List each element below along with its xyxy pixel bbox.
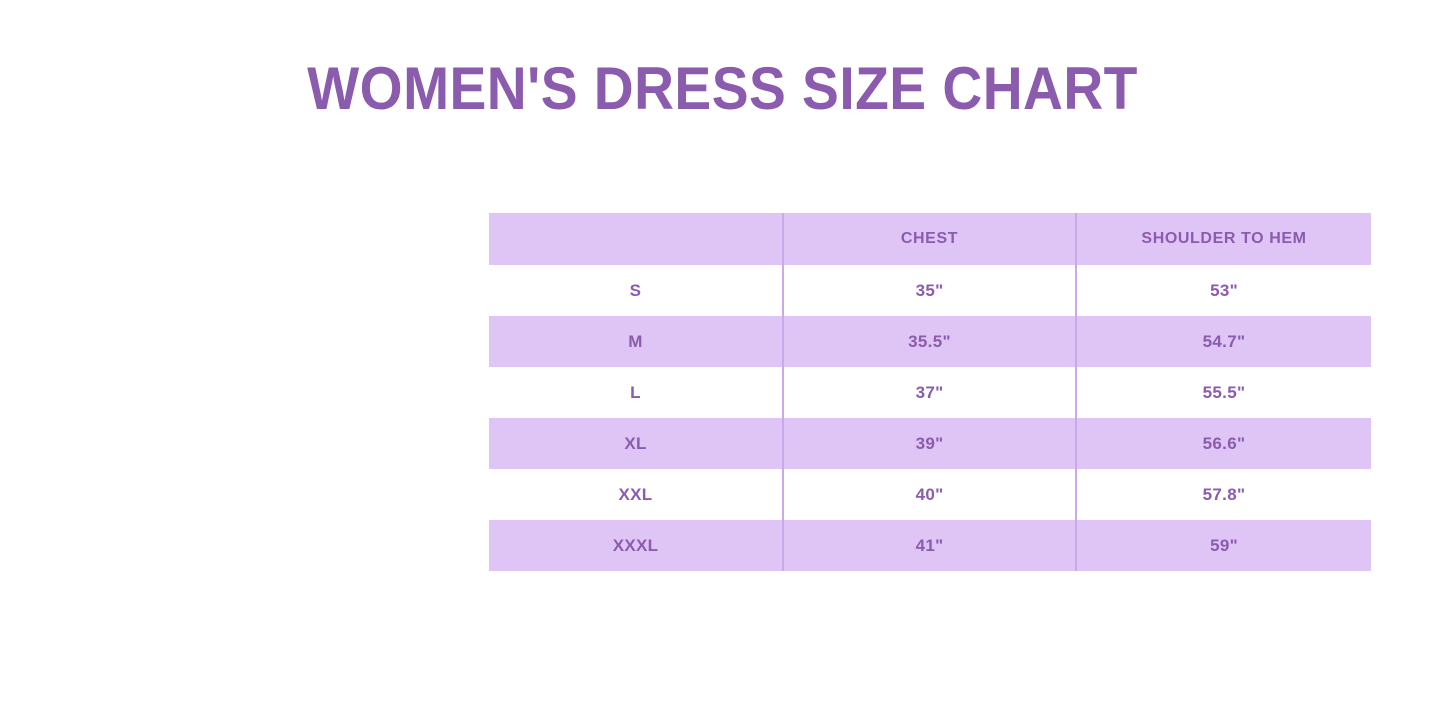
table-header-row: CHEST SHOULDER TO HEM xyxy=(489,213,1371,265)
size-chart-table: CHEST SHOULDER TO HEM S 35" 53" M 35.5" … xyxy=(489,213,1371,571)
column-header-size xyxy=(489,213,783,265)
cell-size: XL xyxy=(489,418,783,469)
cell-chest: 35" xyxy=(783,265,1076,316)
cell-chest: 41" xyxy=(783,520,1076,571)
cell-size: XXL xyxy=(489,469,783,520)
size-chart-page: WOMEN'S DRESS SIZE CHART CHEST SHOULDER … xyxy=(0,0,1445,723)
column-header-shoulder-to-hem: SHOULDER TO HEM xyxy=(1076,213,1371,265)
cell-size: S xyxy=(489,265,783,316)
cell-shoulder-to-hem: 55.5" xyxy=(1076,367,1371,418)
cell-shoulder-to-hem: 54.7" xyxy=(1076,316,1371,367)
table-row: S 35" 53" xyxy=(489,265,1371,316)
cell-size: L xyxy=(489,367,783,418)
column-header-chest: CHEST xyxy=(783,213,1076,265)
page-title: WOMEN'S DRESS SIZE CHART xyxy=(58,56,1387,122)
cell-chest: 39" xyxy=(783,418,1076,469)
table-row: L 37" 55.5" xyxy=(489,367,1371,418)
cell-shoulder-to-hem: 56.6" xyxy=(1076,418,1371,469)
cell-shoulder-to-hem: 59" xyxy=(1076,520,1371,571)
cell-chest: 40" xyxy=(783,469,1076,520)
table-body: S 35" 53" M 35.5" 54.7" L 37" 55.5" XL 3… xyxy=(489,265,1371,571)
cell-shoulder-to-hem: 57.8" xyxy=(1076,469,1371,520)
cell-shoulder-to-hem: 53" xyxy=(1076,265,1371,316)
cell-size: M xyxy=(489,316,783,367)
cell-chest: 35.5" xyxy=(783,316,1076,367)
cell-chest: 37" xyxy=(783,367,1076,418)
table-row: XL 39" 56.6" xyxy=(489,418,1371,469)
table-row: XXL 40" 57.8" xyxy=(489,469,1371,520)
table-header: CHEST SHOULDER TO HEM xyxy=(489,213,1371,265)
cell-size: XXXL xyxy=(489,520,783,571)
table-row: XXXL 41" 59" xyxy=(489,520,1371,571)
size-table-container: CHEST SHOULDER TO HEM S 35" 53" M 35.5" … xyxy=(489,213,1371,571)
table-row: M 35.5" 54.7" xyxy=(489,316,1371,367)
